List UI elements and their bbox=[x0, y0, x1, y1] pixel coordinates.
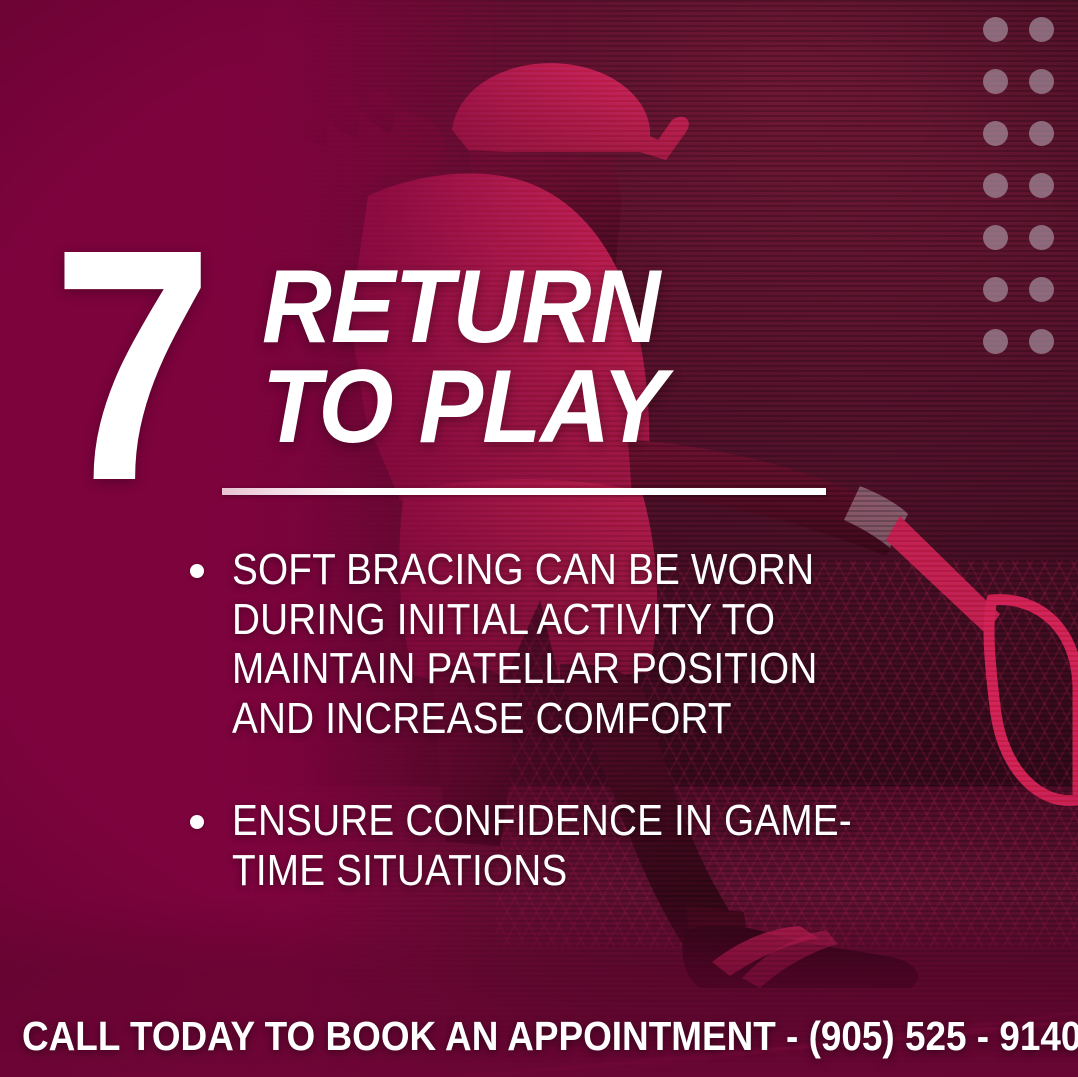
footer-call-to-action: CALL TODAY TO BOOK AN APPOINTMENT - (905… bbox=[22, 1016, 1078, 1057]
headline-row: 7 RETURN TO PLAY bbox=[52, 252, 696, 484]
list-item: ENSURE CONFIDENCE IN GAME-TIME SITUATION… bbox=[190, 796, 950, 895]
bullet-dot-icon bbox=[190, 564, 204, 578]
list-item: SOFT BRACING CAN BE WORN DURING INITIAL … bbox=[190, 545, 950, 744]
poster-content: 7 RETURN TO PLAY SOFT BRACING CAN BE WOR… bbox=[0, 0, 1078, 1077]
bullet-list: SOFT BRACING CAN BE WORN DURING INITIAL … bbox=[190, 545, 950, 895]
title-line-2: TO PLAY bbox=[262, 358, 666, 458]
title-line-1: RETURN bbox=[262, 258, 666, 358]
bullet-text: ENSURE CONFIDENCE IN GAME-TIME SITUATION… bbox=[232, 796, 864, 895]
step-number: 7 bbox=[52, 246, 205, 484]
title-block: RETURN TO PLAY bbox=[262, 258, 696, 458]
poster-graphic: 7 RETURN TO PLAY SOFT BRACING CAN BE WOR… bbox=[0, 0, 1078, 1077]
bullet-dot-icon bbox=[190, 815, 204, 829]
title-underline-rule bbox=[222, 488, 826, 495]
bullet-text: SOFT BRACING CAN BE WORN DURING INITIAL … bbox=[232, 545, 864, 744]
